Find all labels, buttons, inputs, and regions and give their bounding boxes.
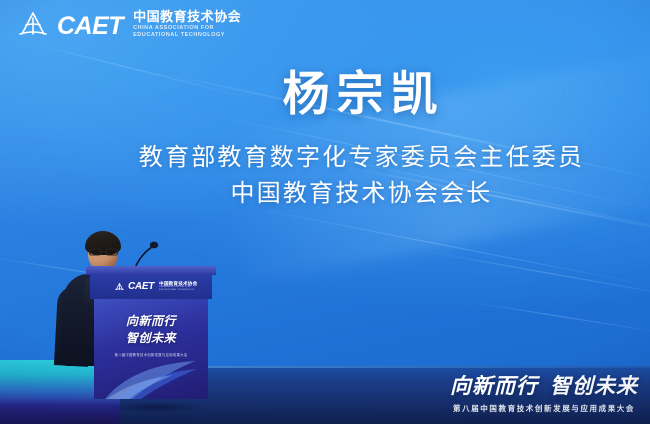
conference-stage-photo: CAET 中国教育技术协会 CHINA ASSOCIATION FOR EDUC… xyxy=(0,0,650,424)
vignette-overlay xyxy=(0,0,650,424)
